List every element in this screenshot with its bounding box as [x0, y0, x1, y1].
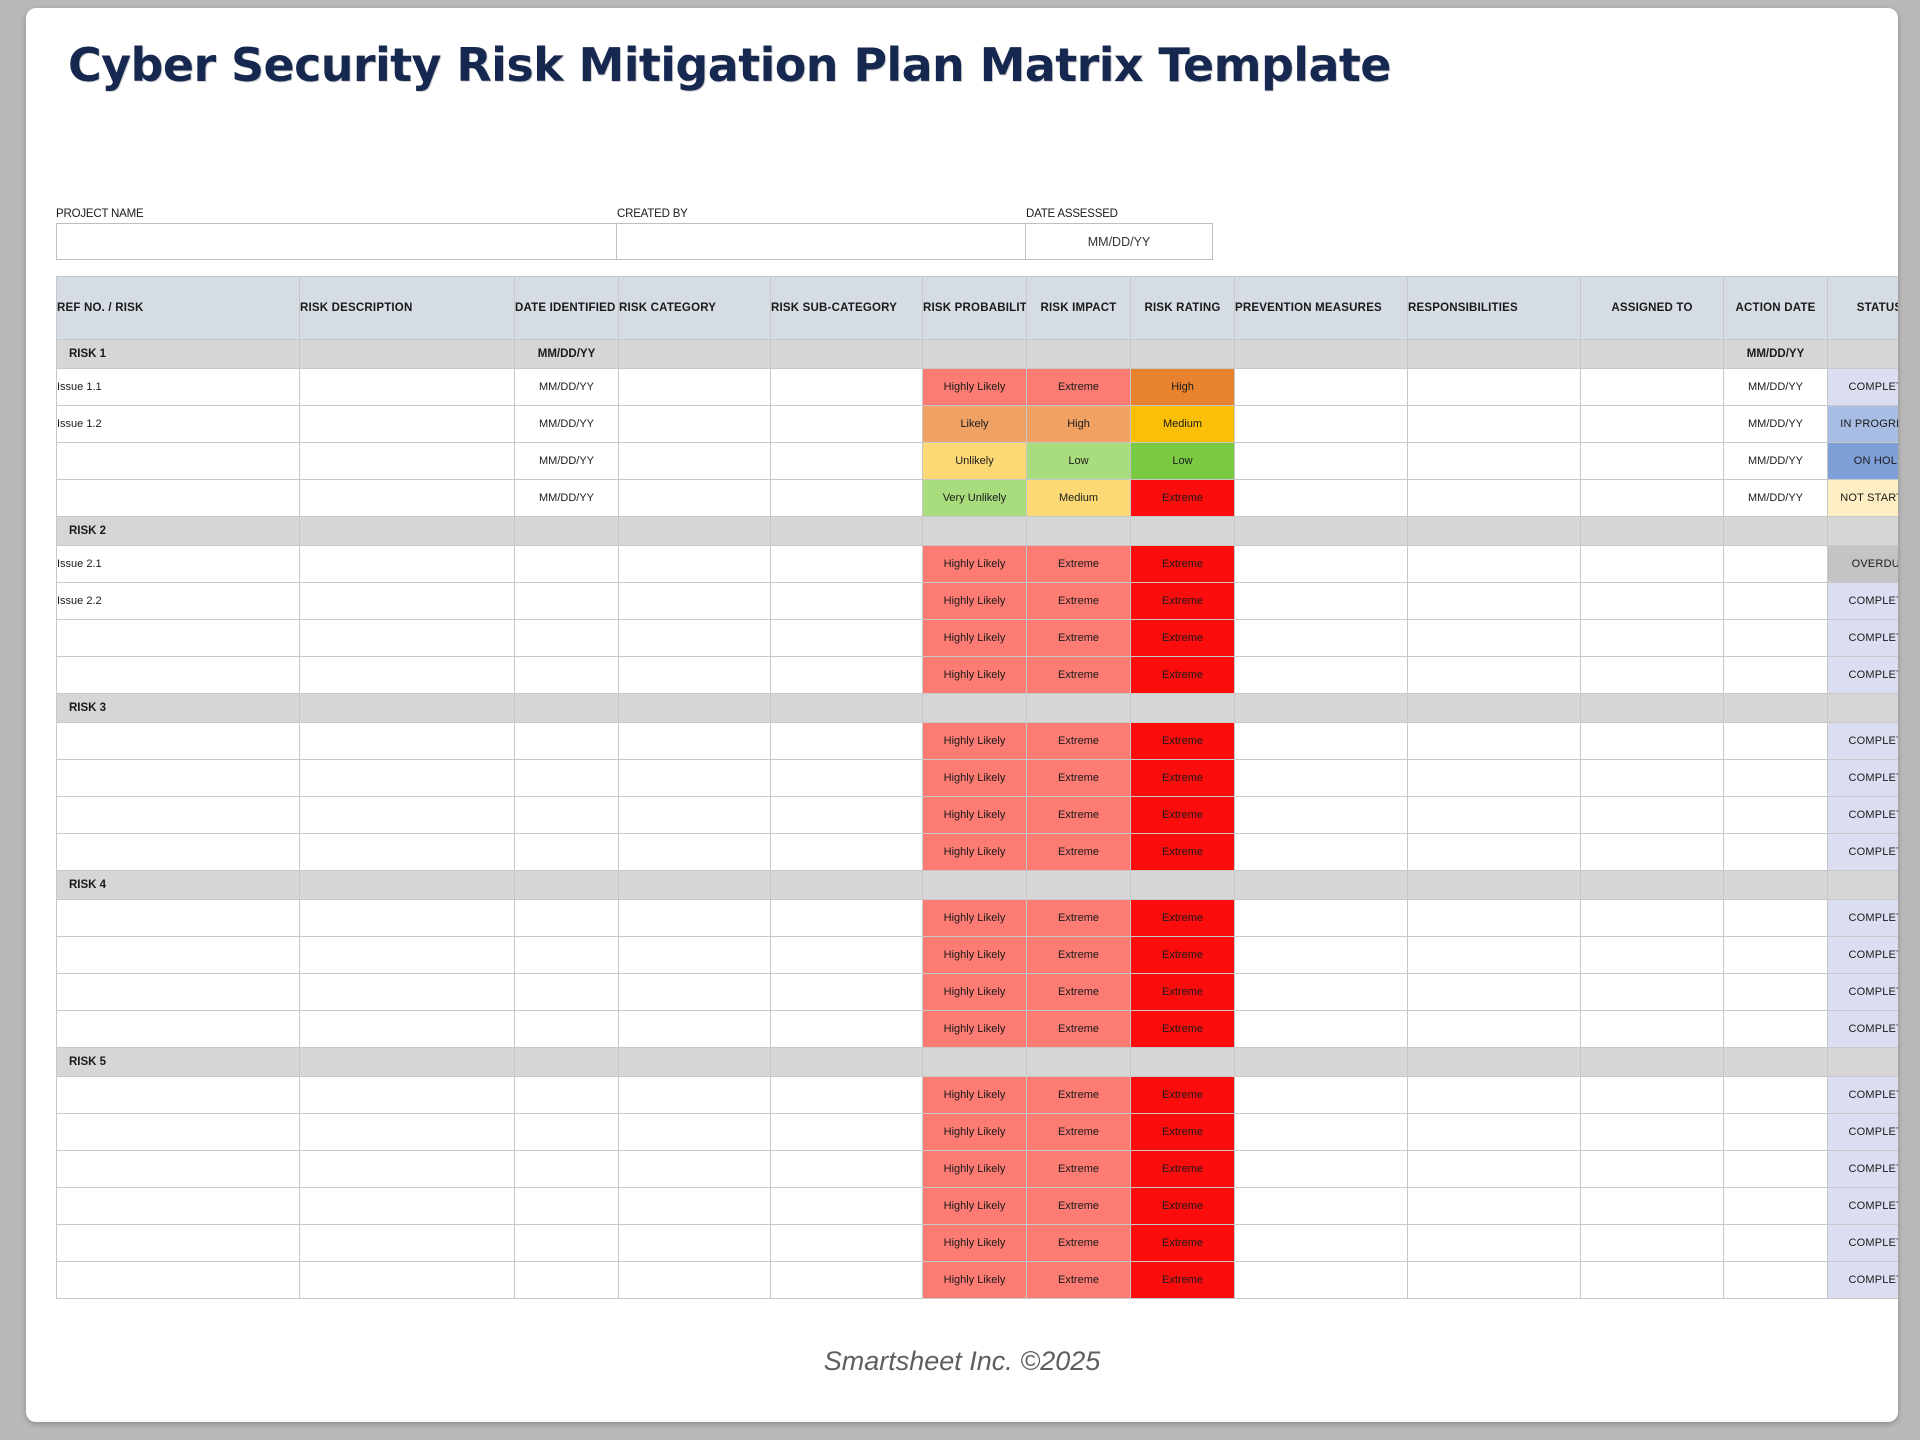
- risk-group-action-date[interactable]: [1724, 871, 1828, 900]
- cell-risk-impact[interactable]: Low: [1027, 443, 1131, 480]
- status-badge[interactable]: COMPLETE: [1828, 620, 1899, 657]
- cell-risk-probability[interactable]: Highly Likely: [923, 546, 1027, 583]
- cell-prevention-measures[interactable]: [1235, 834, 1408, 871]
- cell-action-date[interactable]: [1724, 657, 1828, 694]
- cell-prevention-measures[interactable]: [1235, 1188, 1408, 1225]
- date-assessed-input[interactable]: MM/DD/YY: [1026, 223, 1213, 260]
- cell-sub-category[interactable]: [771, 583, 923, 620]
- risk-group-label[interactable]: RISK 5: [57, 1048, 300, 1077]
- cell-sub-category[interactable]: [771, 974, 923, 1011]
- cell-risk-impact[interactable]: Extreme: [1027, 620, 1131, 657]
- cell-risk-probability[interactable]: Highly Likely: [923, 760, 1027, 797]
- cell-sub-category[interactable]: [771, 937, 923, 974]
- cell-responsibilities[interactable]: [1408, 797, 1581, 834]
- risk-group-cell-prevention[interactable]: [1235, 1048, 1408, 1077]
- cell-category[interactable]: [619, 723, 771, 760]
- risk-group-cell-assigned_to[interactable]: [1581, 871, 1724, 900]
- cell-description[interactable]: [300, 480, 515, 517]
- column-header-sub_category[interactable]: RISK SUB-CATEGORY: [771, 277, 923, 340]
- cell-category[interactable]: [619, 1011, 771, 1048]
- status-badge[interactable]: COMPLETE: [1828, 1114, 1899, 1151]
- cell-sub-category[interactable]: [771, 900, 923, 937]
- risk-group-cell-prevention[interactable]: [1235, 340, 1408, 369]
- cell-category[interactable]: [619, 546, 771, 583]
- cell-ref[interactable]: [57, 974, 300, 1011]
- risk-group-cell-prevention[interactable]: [1235, 517, 1408, 546]
- cell-sub-category[interactable]: [771, 1188, 923, 1225]
- risk-group-action-date[interactable]: [1724, 517, 1828, 546]
- risk-group-cell-assigned_to[interactable]: [1581, 1048, 1724, 1077]
- cell-risk-impact[interactable]: Extreme: [1027, 583, 1131, 620]
- cell-prevention-measures[interactable]: [1235, 974, 1408, 1011]
- cell-assigned-to[interactable]: [1581, 900, 1724, 937]
- cell-sub-category[interactable]: [771, 406, 923, 443]
- cell-risk-impact[interactable]: Medium: [1027, 480, 1131, 517]
- cell-description[interactable]: [300, 369, 515, 406]
- cell-assigned-to[interactable]: [1581, 443, 1724, 480]
- cell-risk-impact[interactable]: Extreme: [1027, 369, 1131, 406]
- column-header-probability[interactable]: RISK PROBABILITY: [923, 277, 1027, 340]
- cell-risk-rating[interactable]: Extreme: [1131, 1225, 1235, 1262]
- risk-group-cell-responsibilities[interactable]: [1408, 871, 1581, 900]
- cell-action-date[interactable]: [1724, 620, 1828, 657]
- cell-ref[interactable]: [57, 1151, 300, 1188]
- status-badge[interactable]: COMPLETE: [1828, 657, 1899, 694]
- cell-prevention-measures[interactable]: [1235, 1011, 1408, 1048]
- cell-description[interactable]: [300, 1077, 515, 1114]
- cell-description[interactable]: [300, 937, 515, 974]
- risk-group-cell-rating[interactable]: [1131, 1048, 1235, 1077]
- risk-group-label[interactable]: RISK 2: [57, 517, 300, 546]
- cell-category[interactable]: [619, 1225, 771, 1262]
- cell-risk-rating[interactable]: Extreme: [1131, 834, 1235, 871]
- cell-assigned-to[interactable]: [1581, 620, 1724, 657]
- cell-action-date[interactable]: [1724, 546, 1828, 583]
- cell-action-date[interactable]: MM/DD/YY: [1724, 369, 1828, 406]
- cell-description[interactable]: [300, 760, 515, 797]
- cell-sub-category[interactable]: [771, 1077, 923, 1114]
- risk-group-cell-description[interactable]: [300, 871, 515, 900]
- cell-assigned-to[interactable]: [1581, 480, 1724, 517]
- cell-category[interactable]: [619, 1151, 771, 1188]
- cell-assigned-to[interactable]: [1581, 1151, 1724, 1188]
- cell-risk-probability[interactable]: Highly Likely: [923, 1225, 1027, 1262]
- cell-risk-rating[interactable]: Extreme: [1131, 1077, 1235, 1114]
- cell-sub-category[interactable]: [771, 443, 923, 480]
- cell-action-date[interactable]: MM/DD/YY: [1724, 406, 1828, 443]
- cell-prevention-measures[interactable]: [1235, 1225, 1408, 1262]
- risk-group-action-date[interactable]: [1724, 1048, 1828, 1077]
- risk-group-cell-category[interactable]: [619, 871, 771, 900]
- risk-group-action-date[interactable]: MM/DD/YY: [1724, 340, 1828, 369]
- cell-risk-rating[interactable]: Extreme: [1131, 1114, 1235, 1151]
- column-header-status[interactable]: STATUS: [1828, 277, 1899, 340]
- cell-responsibilities[interactable]: [1408, 1077, 1581, 1114]
- risk-group-label[interactable]: RISK 3: [57, 694, 300, 723]
- cell-assigned-to[interactable]: [1581, 1114, 1724, 1151]
- risk-group-cell-description[interactable]: [300, 694, 515, 723]
- cell-risk-probability[interactable]: Likely: [923, 406, 1027, 443]
- cell-sub-category[interactable]: [771, 760, 923, 797]
- cell-description[interactable]: [300, 834, 515, 871]
- risk-group-cell-rating[interactable]: [1131, 871, 1235, 900]
- cell-sub-category[interactable]: [771, 1225, 923, 1262]
- risk-group-cell-sub_category[interactable]: [771, 340, 923, 369]
- cell-date-identified[interactable]: [515, 1188, 619, 1225]
- cell-date-identified[interactable]: [515, 1151, 619, 1188]
- cell-action-date[interactable]: [1724, 1225, 1828, 1262]
- cell-prevention-measures[interactable]: [1235, 620, 1408, 657]
- cell-date-identified[interactable]: [515, 974, 619, 1011]
- status-badge[interactable]: COMPLETE: [1828, 974, 1899, 1011]
- cell-action-date[interactable]: [1724, 1188, 1828, 1225]
- cell-action-date[interactable]: [1724, 797, 1828, 834]
- risk-group-label[interactable]: RISK 4: [57, 871, 300, 900]
- project-name-input[interactable]: [56, 223, 617, 260]
- cell-responsibilities[interactable]: [1408, 657, 1581, 694]
- cell-assigned-to[interactable]: [1581, 406, 1724, 443]
- cell-date-identified[interactable]: MM/DD/YY: [515, 443, 619, 480]
- cell-risk-probability[interactable]: Highly Likely: [923, 900, 1027, 937]
- cell-description[interactable]: [300, 620, 515, 657]
- status-badge[interactable]: COMPLETE: [1828, 834, 1899, 871]
- column-header-ref[interactable]: REF NO. / RISK: [57, 277, 300, 340]
- cell-category[interactable]: [619, 834, 771, 871]
- risk-group-cell-impact[interactable]: [1027, 871, 1131, 900]
- cell-risk-rating[interactable]: Extreme: [1131, 723, 1235, 760]
- status-badge[interactable]: COMPLETE: [1828, 369, 1899, 406]
- cell-description[interactable]: [300, 1262, 515, 1299]
- cell-risk-probability[interactable]: Very Unlikely: [923, 480, 1027, 517]
- status-badge[interactable]: COMPLETE: [1828, 1077, 1899, 1114]
- cell-responsibilities[interactable]: [1408, 480, 1581, 517]
- created-by-input[interactable]: [617, 223, 1026, 260]
- risk-group-cell-sub_category[interactable]: [771, 871, 923, 900]
- cell-date-identified[interactable]: [515, 900, 619, 937]
- cell-sub-category[interactable]: [771, 1011, 923, 1048]
- cell-sub-category[interactable]: [771, 797, 923, 834]
- cell-responsibilities[interactable]: [1408, 1188, 1581, 1225]
- cell-responsibilities[interactable]: [1408, 974, 1581, 1011]
- cell-risk-impact[interactable]: Extreme: [1027, 1114, 1131, 1151]
- cell-category[interactable]: [619, 480, 771, 517]
- status-badge[interactable]: NOT STARTED: [1828, 480, 1899, 517]
- cell-risk-impact[interactable]: Extreme: [1027, 834, 1131, 871]
- risk-group-cell-assigned_to[interactable]: [1581, 694, 1724, 723]
- cell-prevention-measures[interactable]: [1235, 1262, 1408, 1299]
- risk-group-cell-probability[interactable]: [923, 1048, 1027, 1077]
- cell-risk-impact[interactable]: Extreme: [1027, 1011, 1131, 1048]
- cell-category[interactable]: [619, 1114, 771, 1151]
- cell-date-identified[interactable]: [515, 1077, 619, 1114]
- cell-date-identified[interactable]: [515, 583, 619, 620]
- cell-action-date[interactable]: [1724, 583, 1828, 620]
- risk-group-cell-impact[interactable]: [1027, 340, 1131, 369]
- cell-responsibilities[interactable]: [1408, 937, 1581, 974]
- cell-action-date[interactable]: [1724, 723, 1828, 760]
- risk-group-cell-sub_category[interactable]: [771, 517, 923, 546]
- cell-risk-rating[interactable]: Extreme: [1131, 546, 1235, 583]
- cell-ref[interactable]: [57, 1262, 300, 1299]
- risk-group-cell-probability[interactable]: [923, 871, 1027, 900]
- cell-risk-probability[interactable]: Highly Likely: [923, 620, 1027, 657]
- risk-group-cell-status[interactable]: [1828, 517, 1899, 546]
- cell-assigned-to[interactable]: [1581, 583, 1724, 620]
- cell-ref[interactable]: [57, 620, 300, 657]
- cell-prevention-measures[interactable]: [1235, 1077, 1408, 1114]
- cell-risk-probability[interactable]: Highly Likely: [923, 797, 1027, 834]
- cell-category[interactable]: [619, 797, 771, 834]
- cell-ref[interactable]: [57, 797, 300, 834]
- cell-description[interactable]: [300, 900, 515, 937]
- cell-risk-impact[interactable]: Extreme: [1027, 760, 1131, 797]
- status-badge[interactable]: ON HOLD: [1828, 443, 1899, 480]
- cell-ref[interactable]: [57, 1011, 300, 1048]
- column-header-impact[interactable]: RISK IMPACT: [1027, 277, 1131, 340]
- cell-prevention-measures[interactable]: [1235, 657, 1408, 694]
- cell-sub-category[interactable]: [771, 1114, 923, 1151]
- cell-date-identified[interactable]: [515, 657, 619, 694]
- cell-date-identified[interactable]: [515, 723, 619, 760]
- column-header-category[interactable]: RISK CATEGORY: [619, 277, 771, 340]
- cell-responsibilities[interactable]: [1408, 583, 1581, 620]
- cell-risk-rating[interactable]: Extreme: [1131, 974, 1235, 1011]
- risk-group-cell-category[interactable]: [619, 694, 771, 723]
- status-badge[interactable]: COMPLETE: [1828, 1225, 1899, 1262]
- risk-group-cell-description[interactable]: [300, 340, 515, 369]
- cell-ref[interactable]: [57, 937, 300, 974]
- cell-action-date[interactable]: MM/DD/YY: [1724, 480, 1828, 517]
- cell-risk-probability[interactable]: Highly Likely: [923, 1077, 1027, 1114]
- cell-prevention-measures[interactable]: [1235, 1114, 1408, 1151]
- column-header-action_date[interactable]: ACTION DATE: [1724, 277, 1828, 340]
- cell-ref[interactable]: Issue 1.1: [57, 369, 300, 406]
- cell-category[interactable]: [619, 369, 771, 406]
- cell-risk-probability[interactable]: Highly Likely: [923, 834, 1027, 871]
- risk-group-cell-responsibilities[interactable]: [1408, 517, 1581, 546]
- column-header-assigned_to[interactable]: ASSIGNED TO: [1581, 277, 1724, 340]
- cell-ref[interactable]: Issue 2.2: [57, 583, 300, 620]
- cell-description[interactable]: [300, 546, 515, 583]
- cell-assigned-to[interactable]: [1581, 1011, 1724, 1048]
- cell-responsibilities[interactable]: [1408, 443, 1581, 480]
- risk-group-cell-prevention[interactable]: [1235, 694, 1408, 723]
- cell-sub-category[interactable]: [771, 480, 923, 517]
- cell-date-identified[interactable]: [515, 620, 619, 657]
- cell-description[interactable]: [300, 1011, 515, 1048]
- cell-responsibilities[interactable]: [1408, 900, 1581, 937]
- column-header-date_identified[interactable]: DATE IDENTIFIED: [515, 277, 619, 340]
- cell-risk-rating[interactable]: Extreme: [1131, 657, 1235, 694]
- cell-ref[interactable]: [57, 1188, 300, 1225]
- cell-category[interactable]: [619, 583, 771, 620]
- cell-risk-rating[interactable]: Extreme: [1131, 1151, 1235, 1188]
- risk-group-cell-probability[interactable]: [923, 694, 1027, 723]
- risk-group-cell-status[interactable]: [1828, 871, 1899, 900]
- cell-assigned-to[interactable]: [1581, 369, 1724, 406]
- risk-group-cell-probability[interactable]: [923, 340, 1027, 369]
- cell-description[interactable]: [300, 583, 515, 620]
- risk-group-cell-status[interactable]: [1828, 340, 1899, 369]
- cell-risk-probability[interactable]: Highly Likely: [923, 1188, 1027, 1225]
- cell-responsibilities[interactable]: [1408, 1114, 1581, 1151]
- cell-assigned-to[interactable]: [1581, 546, 1724, 583]
- cell-risk-impact[interactable]: Extreme: [1027, 546, 1131, 583]
- cell-description[interactable]: [300, 974, 515, 1011]
- cell-category[interactable]: [619, 1188, 771, 1225]
- cell-date-identified[interactable]: [515, 1011, 619, 1048]
- cell-sub-category[interactable]: [771, 1262, 923, 1299]
- cell-date-identified[interactable]: [515, 760, 619, 797]
- risk-group-cell-responsibilities[interactable]: [1408, 340, 1581, 369]
- cell-responsibilities[interactable]: [1408, 834, 1581, 871]
- risk-group-date-identified[interactable]: [515, 694, 619, 723]
- cell-responsibilities[interactable]: [1408, 1262, 1581, 1299]
- status-badge[interactable]: COMPLETE: [1828, 1188, 1899, 1225]
- cell-risk-rating[interactable]: Medium: [1131, 406, 1235, 443]
- status-badge[interactable]: COMPLETE: [1828, 583, 1899, 620]
- cell-date-identified[interactable]: MM/DD/YY: [515, 369, 619, 406]
- cell-description[interactable]: [300, 1225, 515, 1262]
- cell-action-date[interactable]: MM/DD/YY: [1724, 443, 1828, 480]
- risk-group-cell-description[interactable]: [300, 1048, 515, 1077]
- cell-risk-rating[interactable]: High: [1131, 369, 1235, 406]
- cell-prevention-measures[interactable]: [1235, 406, 1408, 443]
- cell-description[interactable]: [300, 797, 515, 834]
- cell-description[interactable]: [300, 723, 515, 760]
- cell-responsibilities[interactable]: [1408, 406, 1581, 443]
- risk-group-cell-rating[interactable]: [1131, 340, 1235, 369]
- risk-group-date-identified[interactable]: [515, 517, 619, 546]
- cell-prevention-measures[interactable]: [1235, 583, 1408, 620]
- cell-ref[interactable]: [57, 443, 300, 480]
- cell-sub-category[interactable]: [771, 620, 923, 657]
- cell-assigned-to[interactable]: [1581, 1262, 1724, 1299]
- risk-group-cell-sub_category[interactable]: [771, 694, 923, 723]
- risk-group-date-identified[interactable]: [515, 871, 619, 900]
- risk-group-date-identified[interactable]: [515, 1048, 619, 1077]
- cell-risk-impact[interactable]: Extreme: [1027, 900, 1131, 937]
- cell-risk-impact[interactable]: Extreme: [1027, 797, 1131, 834]
- cell-risk-impact[interactable]: High: [1027, 406, 1131, 443]
- cell-risk-probability[interactable]: Highly Likely: [923, 937, 1027, 974]
- cell-description[interactable]: [300, 406, 515, 443]
- risk-group-cell-assigned_to[interactable]: [1581, 340, 1724, 369]
- cell-assigned-to[interactable]: [1581, 723, 1724, 760]
- cell-sub-category[interactable]: [771, 1151, 923, 1188]
- status-badge[interactable]: COMPLETE: [1828, 723, 1899, 760]
- cell-action-date[interactable]: [1724, 1011, 1828, 1048]
- cell-assigned-to[interactable]: [1581, 834, 1724, 871]
- cell-sub-category[interactable]: [771, 723, 923, 760]
- risk-group-date-identified[interactable]: MM/DD/YY: [515, 340, 619, 369]
- cell-risk-rating[interactable]: Extreme: [1131, 480, 1235, 517]
- cell-responsibilities[interactable]: [1408, 760, 1581, 797]
- risk-group-cell-impact[interactable]: [1027, 1048, 1131, 1077]
- status-badge[interactable]: COMPLETE: [1828, 1011, 1899, 1048]
- cell-sub-category[interactable]: [771, 546, 923, 583]
- cell-risk-rating[interactable]: Extreme: [1131, 620, 1235, 657]
- cell-ref[interactable]: [57, 900, 300, 937]
- cell-action-date[interactable]: [1724, 1077, 1828, 1114]
- cell-sub-category[interactable]: [771, 657, 923, 694]
- cell-risk-probability[interactable]: Highly Likely: [923, 369, 1027, 406]
- cell-prevention-measures[interactable]: [1235, 546, 1408, 583]
- cell-category[interactable]: [619, 1262, 771, 1299]
- column-header-description[interactable]: RISK DESCRIPTION: [300, 277, 515, 340]
- cell-assigned-to[interactable]: [1581, 1225, 1724, 1262]
- cell-category[interactable]: [619, 937, 771, 974]
- risk-group-cell-sub_category[interactable]: [771, 1048, 923, 1077]
- cell-prevention-measures[interactable]: [1235, 723, 1408, 760]
- cell-assigned-to[interactable]: [1581, 974, 1724, 1011]
- cell-responsibilities[interactable]: [1408, 1225, 1581, 1262]
- cell-responsibilities[interactable]: [1408, 369, 1581, 406]
- cell-risk-probability[interactable]: Unlikely: [923, 443, 1027, 480]
- cell-assigned-to[interactable]: [1581, 797, 1724, 834]
- status-badge[interactable]: COMPLETE: [1828, 937, 1899, 974]
- cell-ref[interactable]: [57, 1225, 300, 1262]
- cell-risk-rating[interactable]: Extreme: [1131, 1188, 1235, 1225]
- cell-description[interactable]: [300, 1114, 515, 1151]
- cell-prevention-measures[interactable]: [1235, 443, 1408, 480]
- cell-prevention-measures[interactable]: [1235, 900, 1408, 937]
- cell-ref[interactable]: Issue 1.2: [57, 406, 300, 443]
- cell-prevention-measures[interactable]: [1235, 797, 1408, 834]
- cell-risk-rating[interactable]: Extreme: [1131, 1011, 1235, 1048]
- cell-action-date[interactable]: [1724, 1114, 1828, 1151]
- cell-prevention-measures[interactable]: [1235, 760, 1408, 797]
- cell-risk-rating[interactable]: Low: [1131, 443, 1235, 480]
- cell-risk-impact[interactable]: Extreme: [1027, 1077, 1131, 1114]
- cell-prevention-measures[interactable]: [1235, 937, 1408, 974]
- cell-date-identified[interactable]: MM/DD/YY: [515, 480, 619, 517]
- risk-group-cell-category[interactable]: [619, 517, 771, 546]
- cell-assigned-to[interactable]: [1581, 1077, 1724, 1114]
- cell-action-date[interactable]: [1724, 1151, 1828, 1188]
- cell-category[interactable]: [619, 974, 771, 1011]
- cell-action-date[interactable]: [1724, 937, 1828, 974]
- risk-group-cell-description[interactable]: [300, 517, 515, 546]
- status-badge[interactable]: COMPLETE: [1828, 1262, 1899, 1299]
- cell-action-date[interactable]: [1724, 974, 1828, 1011]
- cell-category[interactable]: [619, 443, 771, 480]
- cell-risk-impact[interactable]: Extreme: [1027, 657, 1131, 694]
- risk-group-cell-status[interactable]: [1828, 1048, 1899, 1077]
- cell-ref[interactable]: [57, 723, 300, 760]
- column-header-prevention[interactable]: PREVENTION MEASURES: [1235, 277, 1408, 340]
- cell-risk-rating[interactable]: Extreme: [1131, 937, 1235, 974]
- risk-group-cell-impact[interactable]: [1027, 517, 1131, 546]
- cell-risk-impact[interactable]: Extreme: [1027, 1225, 1131, 1262]
- risk-group-cell-prevention[interactable]: [1235, 871, 1408, 900]
- risk-group-cell-rating[interactable]: [1131, 694, 1235, 723]
- cell-description[interactable]: [300, 1188, 515, 1225]
- cell-risk-probability[interactable]: Highly Likely: [923, 1262, 1027, 1299]
- status-badge[interactable]: IN PROGRESS: [1828, 406, 1899, 443]
- status-badge[interactable]: COMPLETE: [1828, 760, 1899, 797]
- cell-assigned-to[interactable]: [1581, 760, 1724, 797]
- cell-responsibilities[interactable]: [1408, 620, 1581, 657]
- cell-ref[interactable]: [57, 834, 300, 871]
- cell-ref[interactable]: [57, 480, 300, 517]
- cell-category[interactable]: [619, 657, 771, 694]
- risk-group-action-date[interactable]: [1724, 694, 1828, 723]
- cell-ref[interactable]: Issue 2.1: [57, 546, 300, 583]
- cell-risk-rating[interactable]: Extreme: [1131, 900, 1235, 937]
- column-header-rating[interactable]: RISK RATING: [1131, 277, 1235, 340]
- cell-risk-probability[interactable]: Highly Likely: [923, 1011, 1027, 1048]
